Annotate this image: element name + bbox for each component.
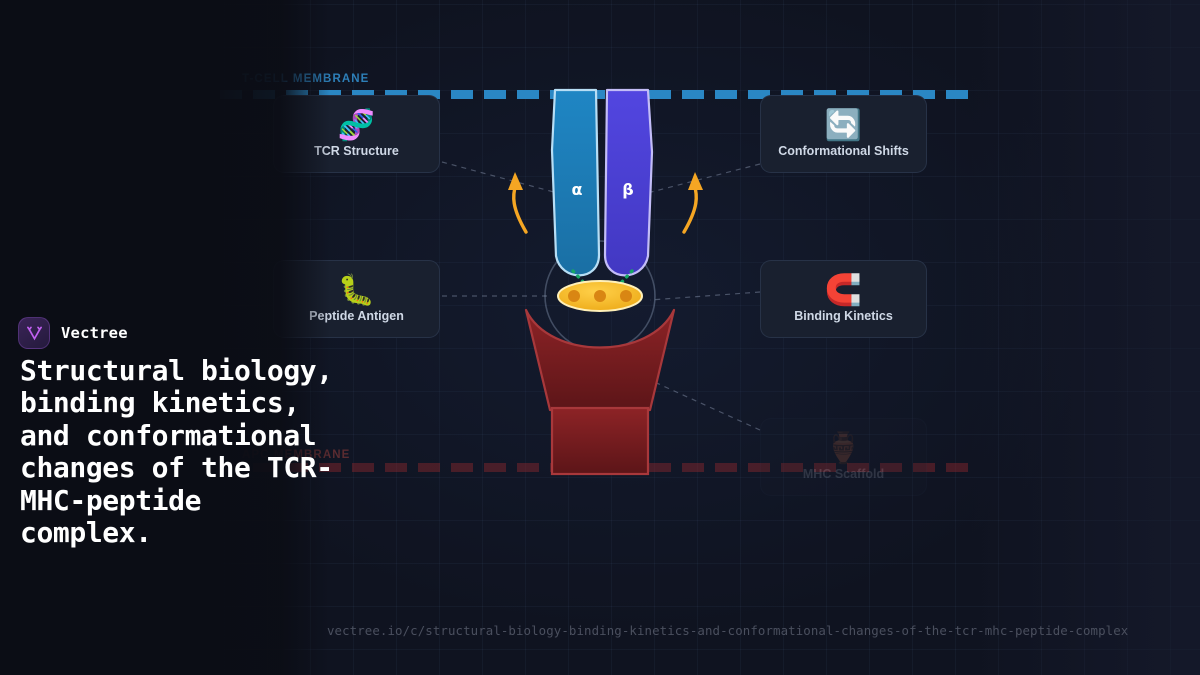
alpha-chain-label: α: [572, 180, 583, 199]
page-headline: Structural biology, binding kinetics, an…: [20, 355, 340, 549]
card-binding-kinetics[interactable]: 🧲 Binding Kinetics: [760, 260, 927, 338]
arrows-cycle-icon: 🔄: [825, 110, 862, 142]
card-conformational-shifts-label: Conformational Shifts: [778, 144, 909, 158]
card-binding-kinetics-label: Binding Kinetics: [794, 309, 893, 323]
caterpillar-icon: 🐛: [338, 275, 375, 307]
vectree-v-logo-icon: [18, 317, 50, 349]
diagram-canvas: T-CELL MEMBRANE APC MEMBRANE: [220, 0, 1200, 675]
card-peptide-antigen[interactable]: 🐛 Peptide Antigen: [273, 260, 440, 338]
diagram-scene: T-CELL MEMBRANE APC MEMBRANE: [0, 0, 1200, 675]
card-tcr-structure[interactable]: 🧬 TCR Structure: [273, 95, 440, 173]
peptide-antigen-shape: [558, 281, 642, 311]
magnet-icon: 🧲: [825, 275, 862, 307]
card-mhc-scaffold-label: MHC Scaffold: [803, 467, 884, 481]
tcr-alpha-chain: α: [552, 90, 599, 275]
brand-name: Vectree: [61, 324, 128, 342]
card-peptide-antigen-label: Peptide Antigen: [309, 309, 404, 323]
source-url: vectree.io/c/structural-biology-binding-…: [327, 623, 1128, 638]
card-mhc-scaffold[interactable]: 🏺 MHC Scaffold: [760, 418, 927, 496]
vectree-glyph: [25, 324, 44, 343]
card-tcr-structure-label: TCR Structure: [314, 144, 399, 158]
brand-lockup: Vectree: [18, 317, 128, 349]
dna-icon: 🧬: [338, 110, 375, 142]
tcr-beta-chain: β: [605, 90, 652, 275]
card-conformational-shifts[interactable]: 🔄 Conformational Shifts: [760, 95, 927, 173]
mhc-scaffold-shape: [526, 310, 674, 474]
beta-chain-label: β: [622, 180, 633, 199]
amphora-icon: 🏺: [825, 433, 862, 465]
